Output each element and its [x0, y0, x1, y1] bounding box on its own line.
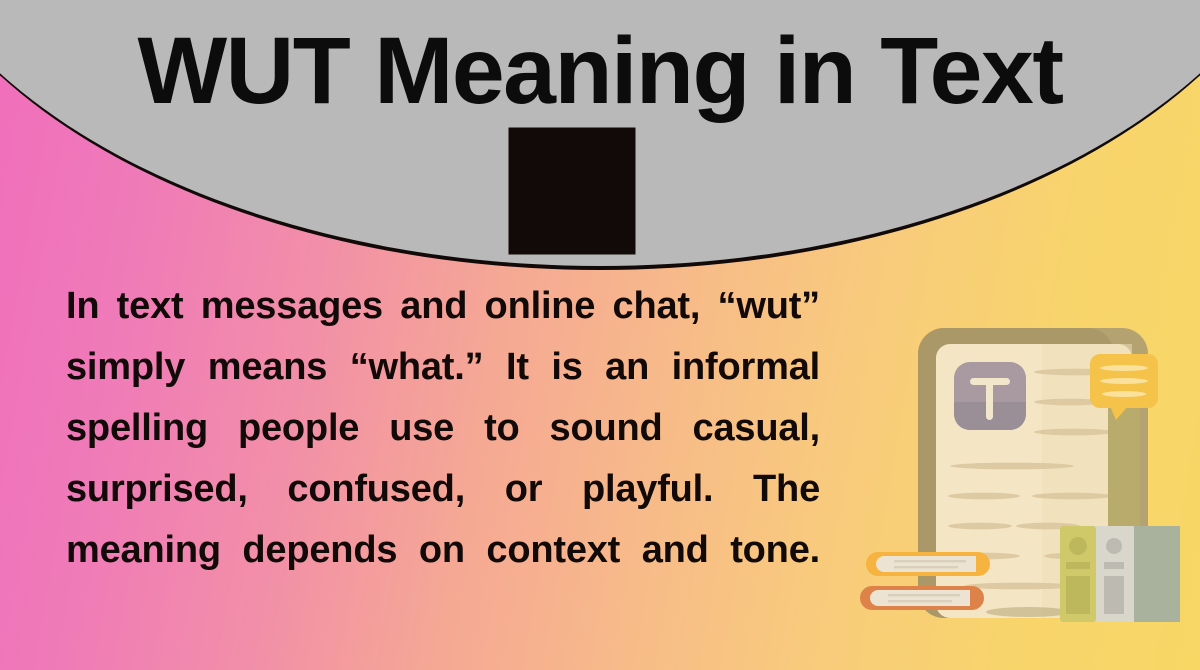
grey-binder-label-body: [1104, 576, 1124, 614]
olive-binder-label-top: [1066, 562, 1090, 569]
olive-binder-label-body: [1066, 576, 1090, 614]
orange-book-pages: [870, 590, 970, 606]
sage-binder: [1132, 526, 1180, 622]
standing-binders: [1060, 526, 1180, 622]
speech-bubble-lines: [1100, 365, 1148, 397]
yellow-book-pages: [876, 556, 976, 572]
book-illustration: [860, 300, 1200, 670]
grey-binder-ring: [1106, 538, 1122, 554]
grey-binder-label-top: [1104, 562, 1124, 569]
banner-canvas: WUT Meaning in Text In text messages and…: [0, 0, 1200, 670]
letter-badge-glyph-stem: [986, 378, 993, 420]
page-shadow-smudge: [986, 607, 1070, 617]
body-paragraph: In text messages and online chat, “wut” …: [66, 276, 820, 642]
page-title: WUT Meaning in Text: [0, 24, 1200, 119]
olive-binder-ring: [1069, 537, 1087, 555]
